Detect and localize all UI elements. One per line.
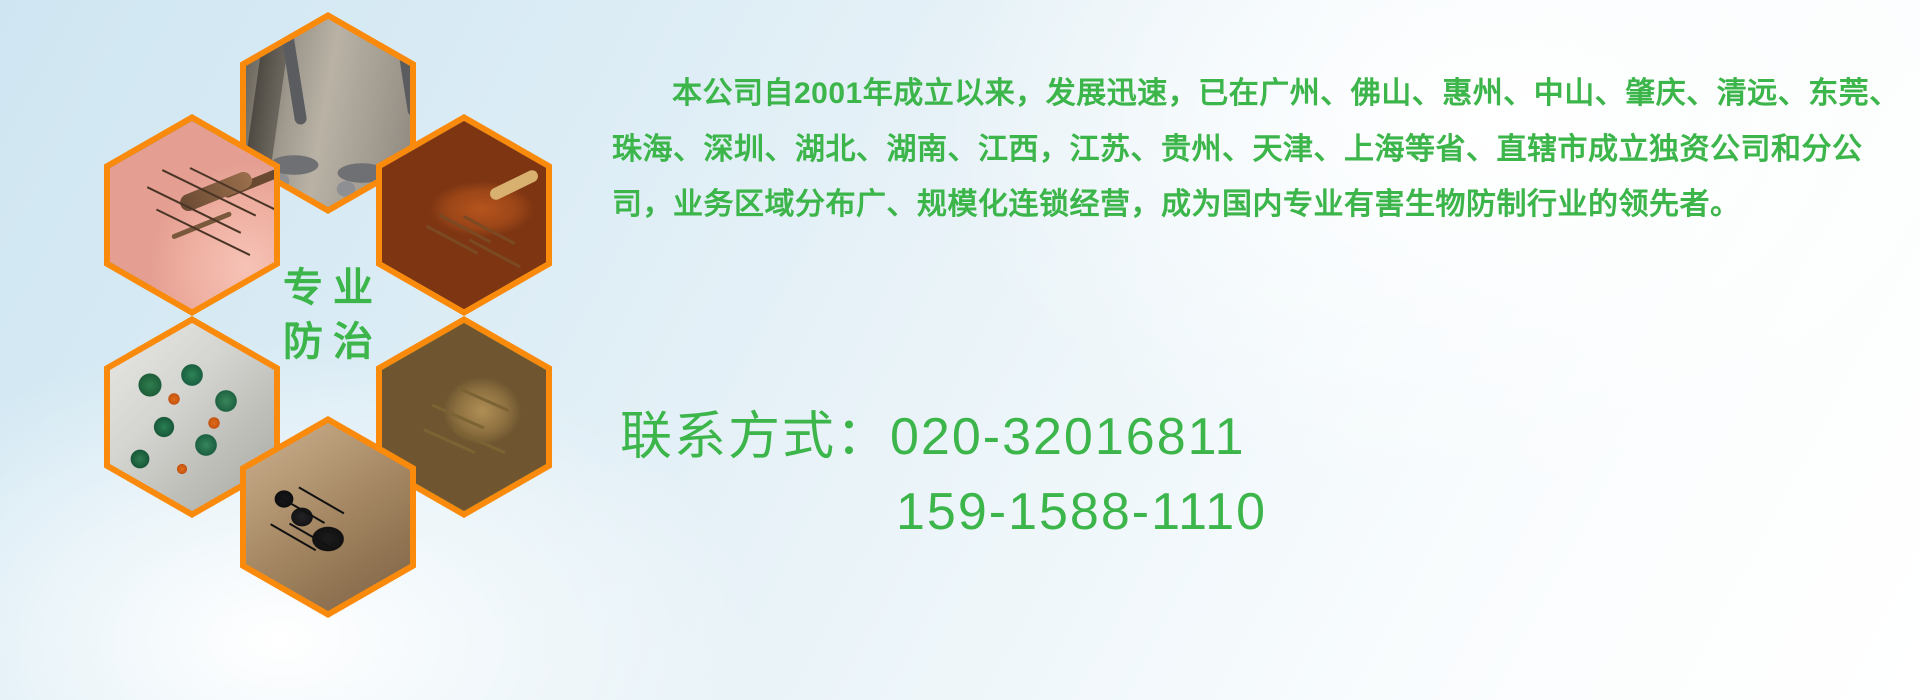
ant-photo-art (246, 423, 410, 611)
banner-content: 本公司自2001年成立以来，发展迅速，已在广州、佛山、惠州、中山、肇庆、清远、东… (612, 0, 1912, 700)
contact-phone-secondary[interactable]: 159-1588-1110 (620, 475, 1910, 550)
honeycomb-gallery: 专业 防治 (88, 8, 588, 568)
company-intro-banner: 专业 防治 本公司自2001年成立以来，发展迅速，已在广州、佛山、惠州、中山、肇… (0, 0, 1920, 700)
ant-photo (246, 423, 410, 611)
contact-phone-primary[interactable]: 020-32016811 (890, 408, 1246, 466)
contact-line-primary: 联系方式：020-32016811 (620, 400, 1910, 475)
center-label-line-1: 专业 (273, 268, 383, 308)
contact-label: 联系方式： (620, 408, 890, 466)
company-intro-paragraph: 本公司自2001年成立以来，发展迅速，已在广州、佛山、惠州、中山、肇庆、清远、东… (612, 66, 1908, 233)
contact-block: 联系方式：020-32016811 159-1588-1110 (620, 400, 1910, 551)
center-label-line-2: 防治 (273, 322, 383, 362)
